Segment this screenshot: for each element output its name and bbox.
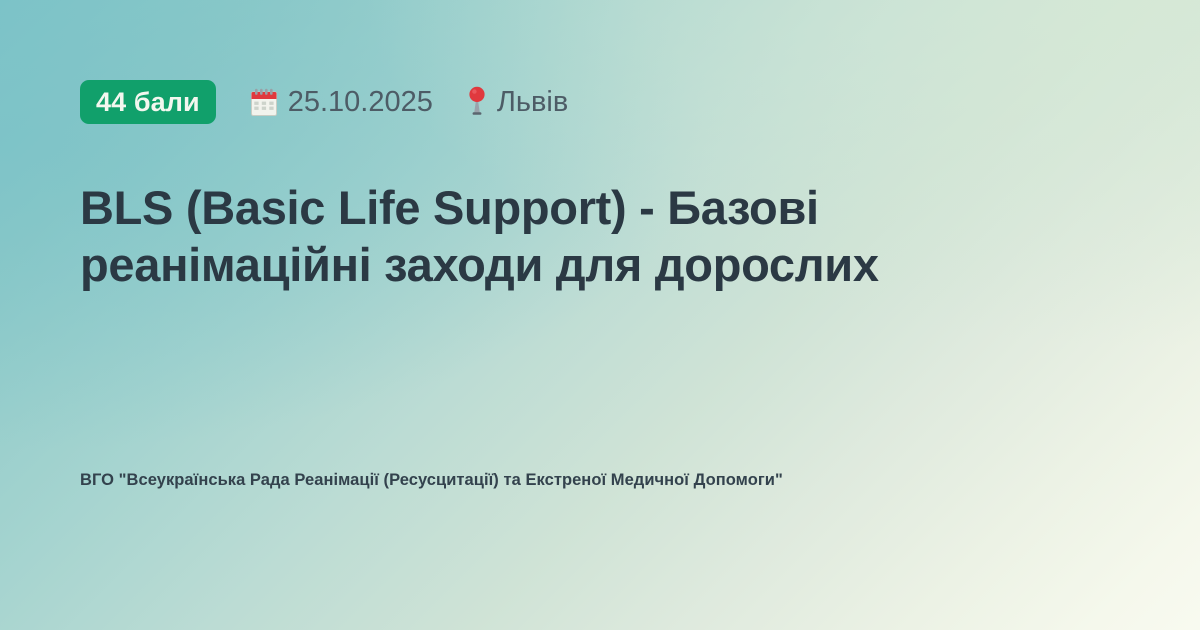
calendar-icon	[250, 88, 278, 117]
event-location: Львів	[467, 86, 568, 118]
layout-spacer	[80, 294, 1120, 469]
event-preview-card: 44 бали	[0, 0, 1200, 630]
event-organiser: ВГО "Всеукраїнська Рада Реанімації (Ресу…	[80, 468, 960, 550]
event-meta-row: 44 бали	[80, 80, 1120, 124]
event-date-label: 25.10.2025	[288, 88, 433, 117]
event-title: BLS (Basic Life Support) - Базові реанім…	[80, 124, 1060, 294]
event-location-label: Львів	[497, 88, 568, 117]
location-pin-icon	[467, 86, 487, 118]
event-date: 25.10.2025	[250, 88, 433, 117]
points-badge: 44 бали	[80, 80, 216, 124]
